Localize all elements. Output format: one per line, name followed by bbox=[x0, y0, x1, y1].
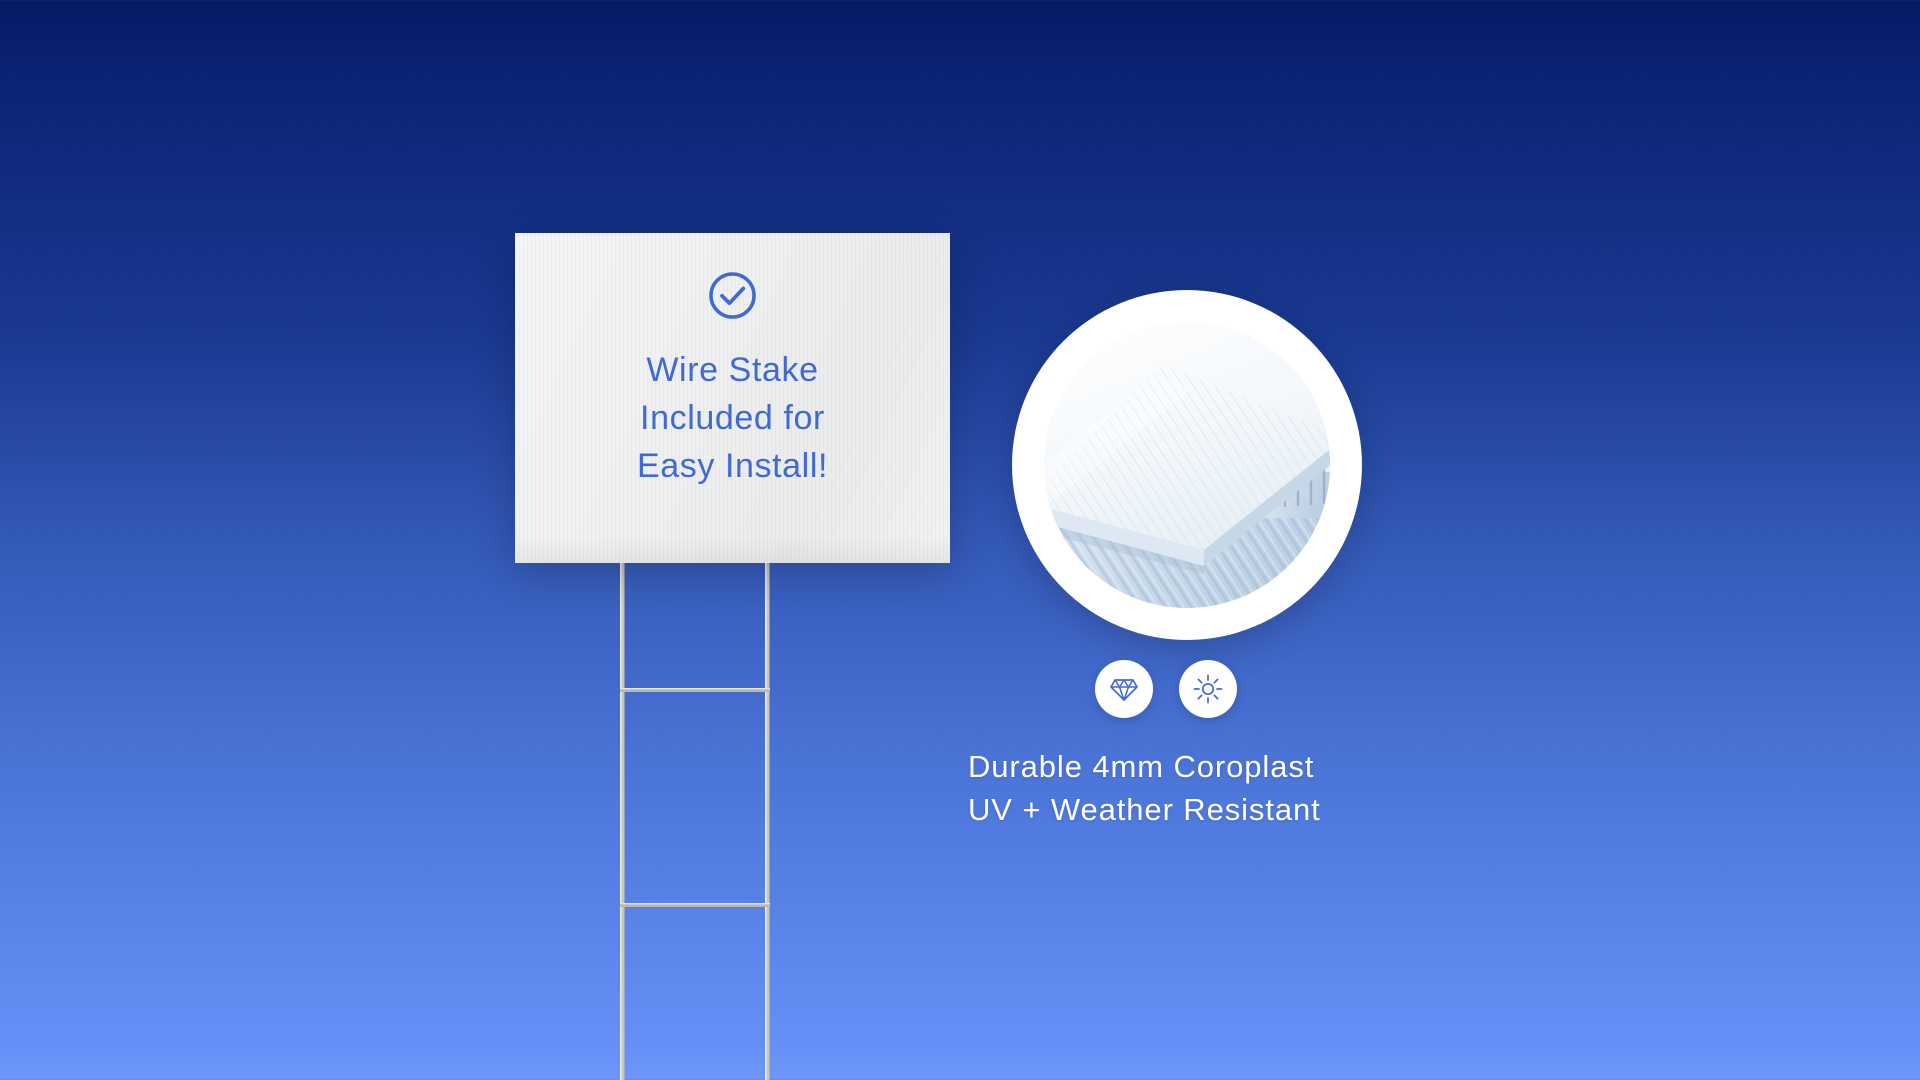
badge-durable bbox=[1095, 660, 1153, 718]
caption-line-2: UV + Weather Resistant bbox=[968, 788, 1321, 831]
sign-line-3: Easy Install! bbox=[637, 442, 828, 490]
coroplast-inset bbox=[1012, 290, 1362, 640]
sun-icon bbox=[1192, 673, 1224, 705]
wire-stake bbox=[515, 558, 950, 1080]
diamond-icon bbox=[1108, 673, 1140, 705]
sign-line-1: Wire Stake bbox=[637, 346, 828, 394]
sign-line-2: Included for bbox=[637, 394, 828, 442]
check-circle-icon bbox=[706, 269, 759, 322]
sign-message: Wire Stake Included for Easy Install! bbox=[637, 346, 828, 490]
coroplast-closeup-photo bbox=[1044, 322, 1330, 608]
sign-board: Wire Stake Included for Easy Install! bbox=[515, 233, 950, 563]
badge-uv-resistant bbox=[1179, 660, 1237, 718]
feature-badges bbox=[1095, 660, 1237, 718]
caption-line-1: Durable 4mm Coroplast bbox=[968, 745, 1321, 788]
material-caption: Durable 4mm Coroplast UV + Weather Resis… bbox=[968, 745, 1321, 831]
